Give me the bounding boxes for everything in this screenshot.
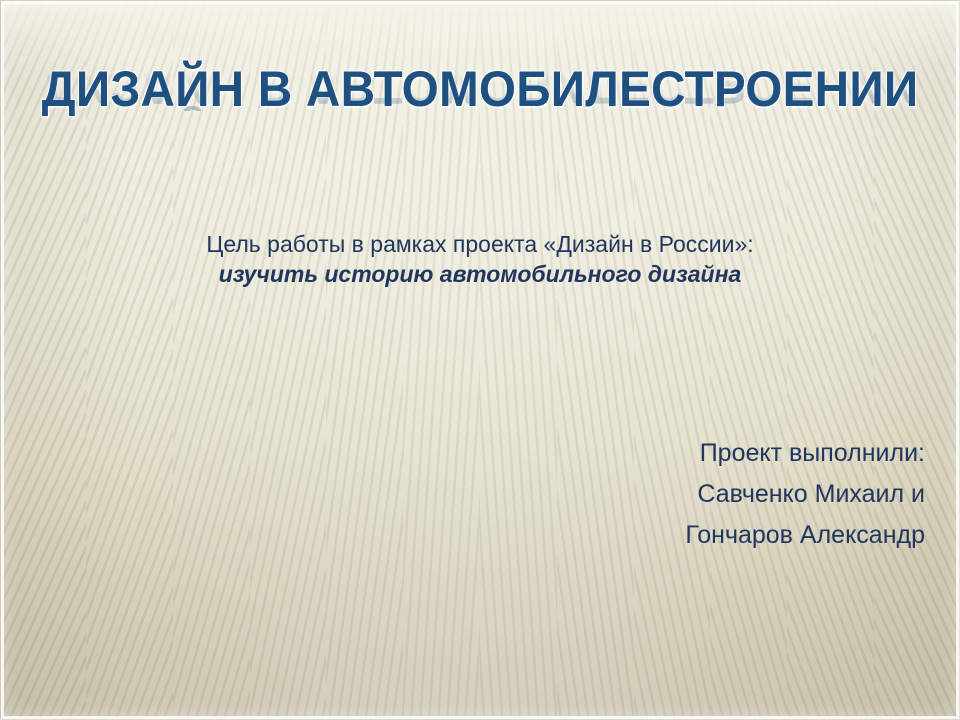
project-goal-block: Цель работы в рамках проекта «Дизайн в Р… (60, 229, 900, 290)
project-goal-intro: Цель работы в рамках проекта «Дизайн в Р… (60, 229, 900, 259)
author-name-2: Гончаров Александр (685, 515, 925, 556)
slide-title-block: ДИЗАЙН В АВТОМОБИЛЕСТРОЕНИИ ДИЗАЙН В АВТ… (0, 64, 960, 162)
authors-heading: Проект выполнили: (685, 433, 925, 474)
author-name-1: Савченко Михаил и (685, 474, 925, 515)
authors-block: Проект выполнили: Савченко Михаил и Гонч… (685, 433, 925, 556)
slide-title-reflection: ДИЗАЙН В АВТОМОБИЛЕСТРОЕНИИ (22, 60, 939, 111)
project-goal-statement: изучить историю автомобильного дизайна (60, 259, 900, 290)
presentation-slide: ДИЗАЙН В АВТОМОБИЛЕСТРОЕНИИ ДИЗАЙН В АВТ… (0, 0, 960, 720)
